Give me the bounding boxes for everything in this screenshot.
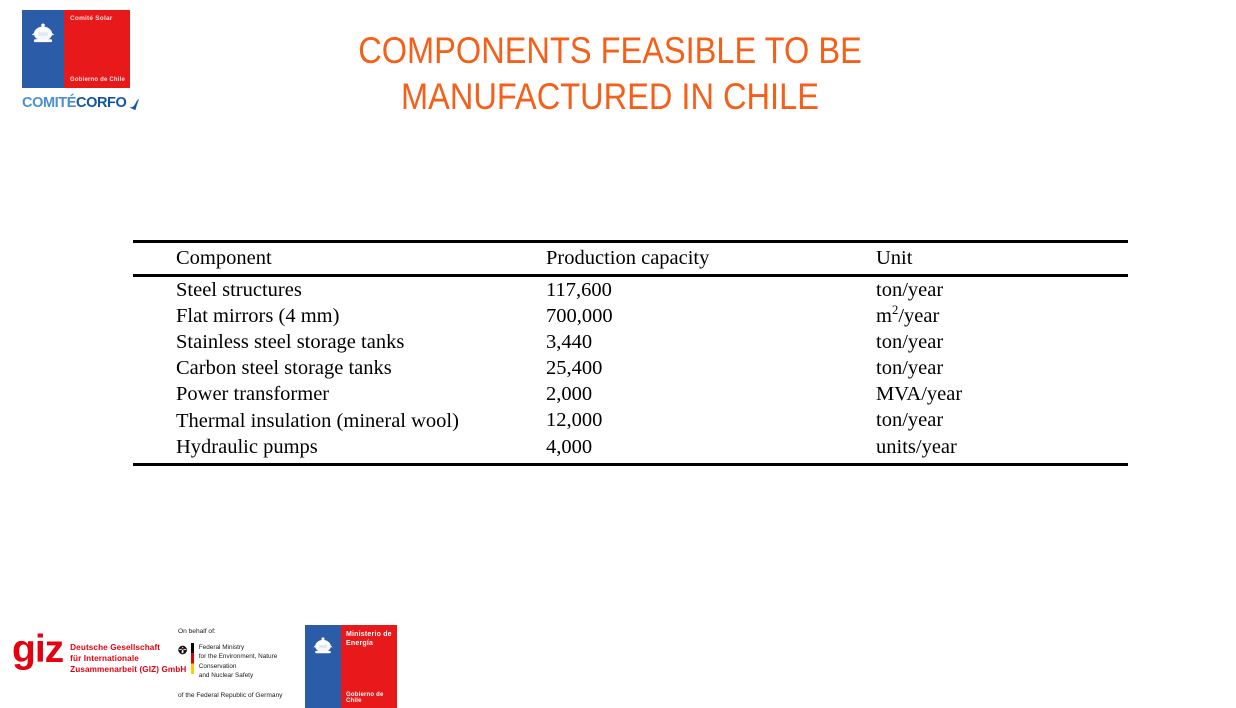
- corfo-wordmark: COMITÉCORFO: [22, 96, 130, 111]
- table-row: Flat mirrors (4 mm)700,000m2/year: [133, 303, 1128, 329]
- cell-production-capacity: 2,000: [546, 381, 876, 407]
- column-header-production-capacity: Production capacity: [546, 242, 876, 276]
- unit-superscript: 2: [892, 303, 898, 317]
- corfo-swoosh-icon: [127, 98, 140, 111]
- cell-production-capacity: 4,000: [546, 434, 876, 464]
- giz-logo: giz Deutsche Gesellschaft für Internatio…: [12, 634, 186, 675]
- flag-top-label: Comité Solar: [70, 15, 113, 22]
- german-ministry-block: On behalf of: Federal Ministry for the E…: [178, 628, 298, 699]
- table-header-row: Component Production capacity Unit: [133, 242, 1128, 276]
- footer: giz Deutsche Gesellschaft für Internatio…: [0, 612, 1236, 696]
- cell-production-capacity: 700,000: [546, 303, 876, 329]
- german-ministry-name: Federal Ministry for the Environment, Na…: [199, 643, 298, 680]
- corfo-wordmark-comite: COMITÉ: [22, 96, 76, 111]
- cell-unit: MVA/year: [876, 381, 1128, 407]
- corfo-wordmark-corfo: CORFO: [76, 96, 126, 111]
- cell-unit: units/year: [876, 434, 1128, 464]
- flag-red-panel: Comité Solar Gobierno de Chile: [64, 10, 130, 88]
- cell-component: Carbon steel storage tanks: [133, 355, 546, 381]
- cell-unit: ton/year: [876, 276, 1128, 304]
- minenergia-top-label: Ministerio de Energía: [346, 631, 392, 648]
- cell-production-capacity: 12,000: [546, 407, 876, 434]
- page-title: COMPONENTS FEASIBLE TO BE MANUFACTURED I…: [214, 28, 1006, 121]
- cell-component: Steel structures: [133, 276, 546, 304]
- minenergia-bottom-label: Gobierno de Chile: [346, 692, 397, 704]
- table-header: Component Production capacity Unit: [133, 242, 1128, 276]
- chile-coat-of-arms-icon: [29, 21, 57, 45]
- cell-production-capacity: 3,440: [546, 329, 876, 355]
- cell-component: Flat mirrors (4 mm): [133, 303, 546, 329]
- giz-wordmark: giz: [12, 634, 63, 666]
- comite-solar-corfo-logo: Comité Solar Gobierno de Chile COMITÉCOR…: [22, 10, 130, 111]
- flag-bottom-label: Gobierno de Chile: [70, 77, 125, 83]
- cell-production-capacity: 117,600: [546, 276, 876, 304]
- cell-component: Stainless steel storage tanks: [133, 329, 546, 355]
- german-eagle-icon: [178, 644, 187, 656]
- cell-component: Power transformer: [133, 381, 546, 407]
- table-body: Steel structures117,600ton/yearFlat mirr…: [133, 276, 1128, 465]
- table-row: Carbon steel storage tanks25,400ton/year: [133, 355, 1128, 381]
- cell-component: Thermal insulation (mineral wool): [133, 407, 546, 434]
- table-row: Steel structures117,600ton/year: [133, 276, 1128, 304]
- giz-full-name: Deutsche Gesellschaft für Internationale…: [70, 643, 186, 675]
- flag-blue-panel: [22, 10, 64, 88]
- cell-unit: ton/year: [876, 329, 1128, 355]
- column-header-component: Component: [133, 242, 546, 276]
- table-row: Stainless steel storage tanks3,440ton/ye…: [133, 329, 1128, 355]
- ministry-row: Federal Ministry for the Environment, Na…: [178, 643, 298, 680]
- cell-unit: ton/year: [876, 407, 1128, 434]
- german-flag-bar-icon: [191, 643, 194, 674]
- on-behalf-of-label: On behalf of:: [178, 628, 298, 635]
- chile-flag-logo: Comité Solar Gobierno de Chile: [22, 10, 130, 88]
- components-table: Component Production capacity Unit Steel…: [133, 240, 1128, 466]
- table-row: Thermal insulation (mineral wool)12,000t…: [133, 407, 1128, 434]
- table-row: Power transformer2,000MVA/year: [133, 381, 1128, 407]
- table-row: Hydraulic pumps4,000units/year: [133, 434, 1128, 464]
- cell-unit: m2/year: [876, 303, 1128, 329]
- chile-coat-of-arms-icon: [311, 635, 335, 656]
- column-header-unit: Unit: [876, 242, 1128, 276]
- cell-unit: ton/year: [876, 355, 1128, 381]
- cell-component: Hydraulic pumps: [133, 434, 546, 464]
- cell-production-capacity: 25,400: [546, 355, 876, 381]
